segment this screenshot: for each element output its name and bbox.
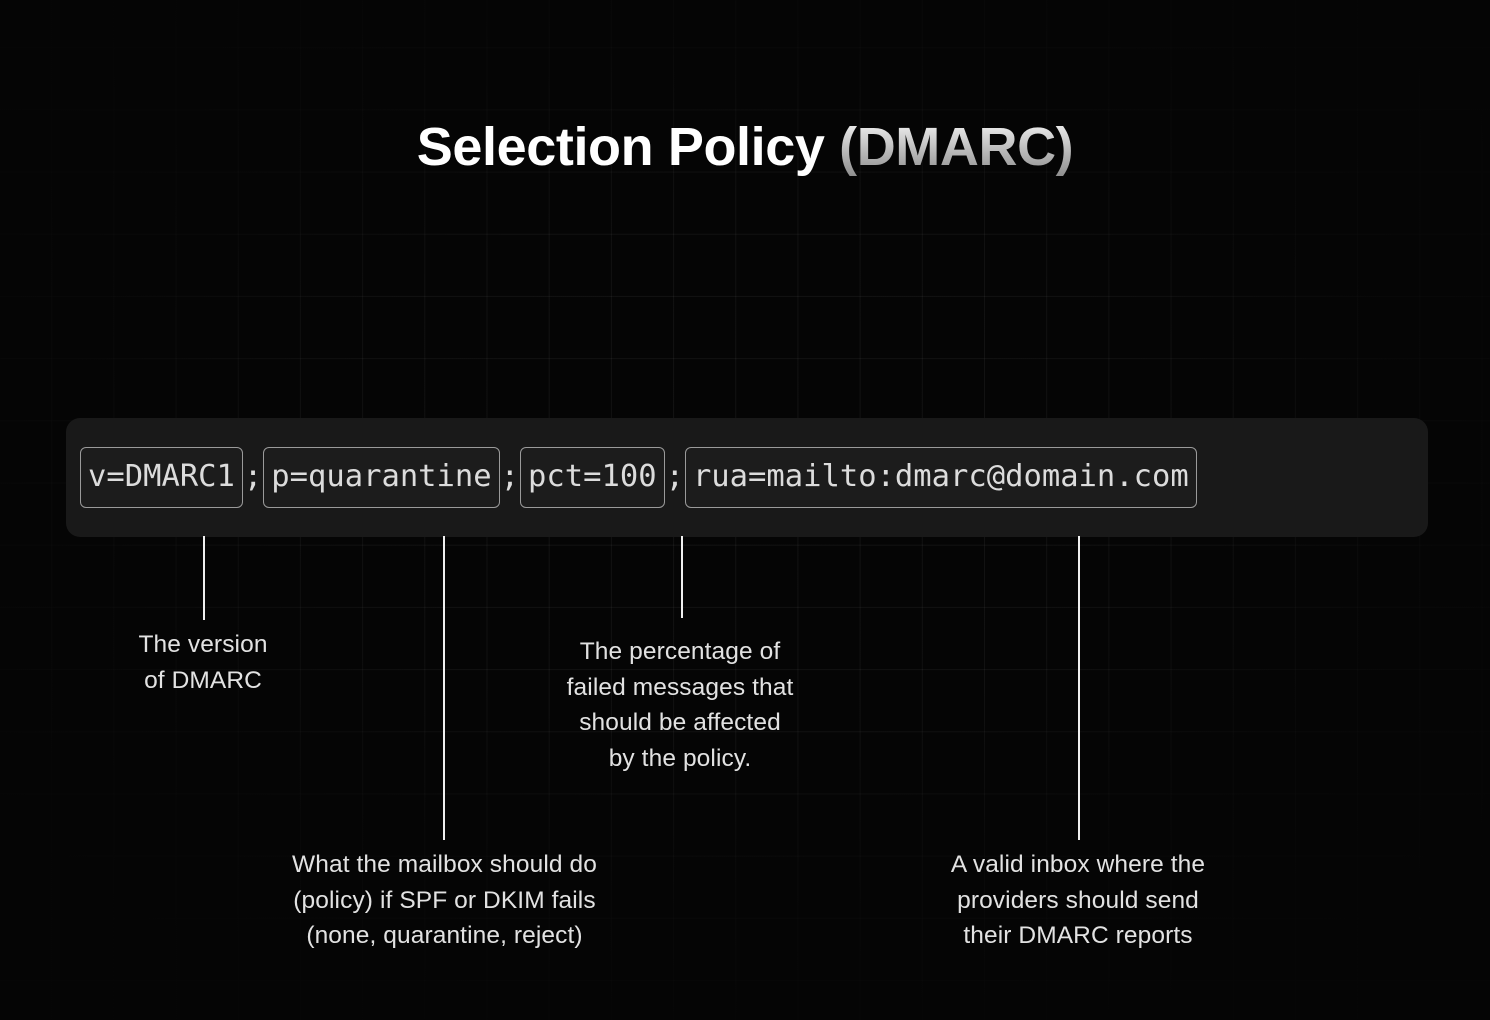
- connector-line-rua: [1078, 536, 1080, 840]
- connector-line-policy: [443, 536, 445, 840]
- annotation-percent: The percentage of failed messages that s…: [518, 634, 842, 776]
- annotation-policy: What the mailbox should do (policy) if S…: [243, 847, 646, 954]
- page-title-main: Selection Policy: [417, 117, 839, 177]
- annotation-percent-line-1: The percentage of: [518, 634, 842, 670]
- record-separator-1: ;: [243, 462, 263, 493]
- record-separator-2: ;: [500, 462, 520, 493]
- annotation-rua-line-1: A valid inbox where the: [897, 847, 1259, 883]
- annotation-version-line-1: The version: [63, 627, 343, 663]
- annotation-rua-line-2: providers should send: [897, 883, 1259, 919]
- record-separator-3: ;: [665, 462, 685, 493]
- record-segment-rua[interactable]: rua=mailto:dmarc@domain.com: [685, 447, 1197, 509]
- annotation-version-line-2: of DMARC: [63, 663, 343, 699]
- record-segment-policy[interactable]: p=quarantine: [263, 447, 499, 509]
- annotation-percent-line-2: failed messages that: [518, 670, 842, 706]
- annotation-version: The version of DMARC: [63, 627, 343, 698]
- dmarc-record-row: v=DMARC1 ; p=quarantine ; pct=100 ; rua=…: [80, 447, 1197, 509]
- page-title: Selection Policy (DMARC): [0, 118, 1490, 177]
- record-segment-version[interactable]: v=DMARC1: [80, 447, 243, 509]
- dmarc-record-panel: v=DMARC1 ; p=quarantine ; pct=100 ; rua=…: [66, 418, 1428, 537]
- annotation-rua: A valid inbox where the providers should…: [897, 847, 1259, 954]
- annotation-policy-line-1: What the mailbox should do: [243, 847, 646, 883]
- page-title-sub: (DMARC): [839, 117, 1073, 177]
- annotation-rua-line-3: their DMARC reports: [897, 918, 1259, 954]
- annotation-policy-line-3: (none, quarantine, reject): [243, 918, 646, 954]
- record-segment-percent[interactable]: pct=100: [520, 447, 665, 509]
- annotation-percent-line-3: should be affected: [518, 705, 842, 741]
- connector-line-percent: [681, 536, 683, 618]
- annotation-policy-line-2: (policy) if SPF or DKIM fails: [243, 883, 646, 919]
- connector-line-version: [203, 536, 205, 620]
- annotation-percent-line-4: by the policy.: [518, 741, 842, 777]
